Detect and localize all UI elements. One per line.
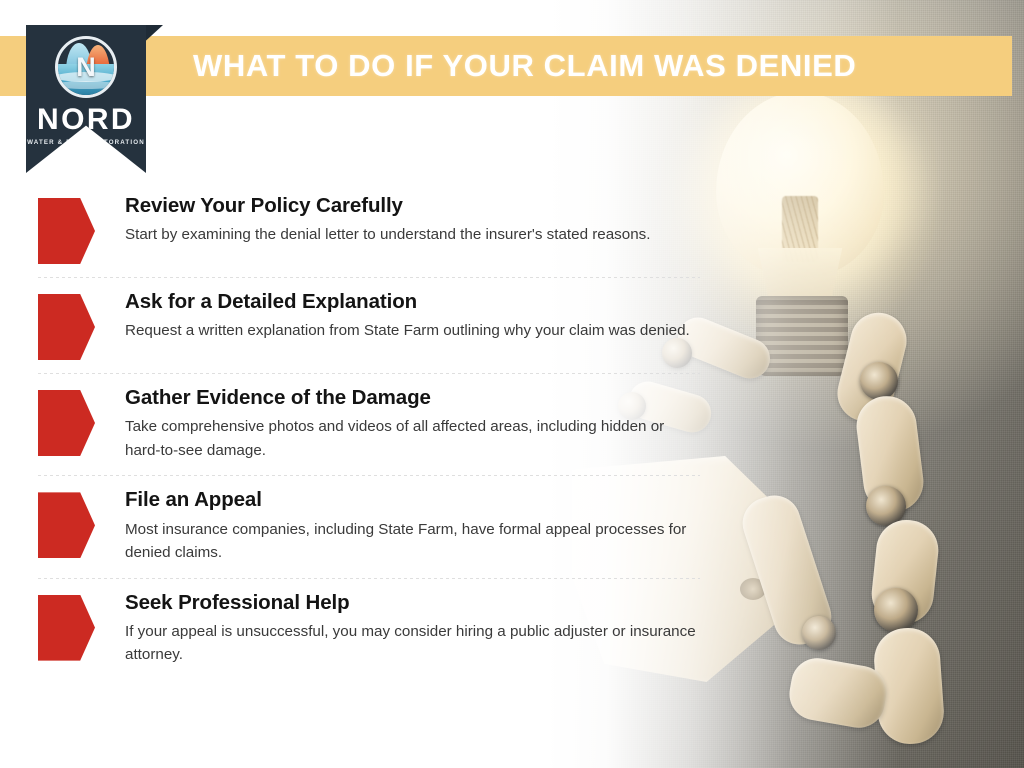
header-banner: WHAT TO DO IF YOUR CLAIM WAS DENIED [0, 36, 1012, 96]
arrow-bullet-icon [38, 198, 95, 264]
step-title: Ask for a Detailed Explanation [125, 290, 690, 314]
list-item: Gather Evidence of the Damage Take compr… [38, 386, 703, 476]
list-item: Ask for a Detailed Explanation Request a… [38, 290, 703, 374]
page-title: WHAT TO DO IF YOUR CLAIM WAS DENIED [193, 48, 856, 84]
step-description: Start by examining the denial letter to … [125, 223, 650, 247]
arrow-bullet-icon [38, 390, 95, 456]
brand-logo[interactable]: N NORD WATER & FIRE RESTORATION [26, 25, 146, 173]
step-body: Gather Evidence of the Damage Take compr… [125, 386, 703, 462]
step-body: File an Appeal Most insurance companies,… [125, 488, 703, 564]
step-title: Gather Evidence of the Damage [125, 386, 703, 410]
step-body: Seek Professional Help If your appeal is… [125, 591, 703, 667]
infographic-canvas: WHAT TO DO IF YOUR CLAIM WAS DENIED N NO… [0, 0, 1024, 768]
arrow-bullet-icon [38, 492, 95, 558]
step-title: Review Your Policy Carefully [125, 194, 650, 218]
arrow-bullet-icon [38, 294, 95, 360]
step-body: Review Your Policy Carefully Start by ex… [125, 194, 650, 247]
logo-tagline: WATER & FIRE RESTORATION [27, 139, 145, 146]
logo-wordmark: NORD [37, 105, 135, 135]
step-title: Seek Professional Help [125, 591, 703, 615]
step-body: Ask for a Detailed Explanation Request a… [125, 290, 690, 343]
list-item: File an Appeal Most insurance companies,… [38, 488, 703, 578]
step-description: If your appeal is unsuccessful, you may … [125, 620, 703, 667]
step-description: Request a written explanation from State… [125, 319, 690, 343]
list-item: Seek Professional Help If your appeal is… [38, 591, 703, 681]
logo-monogram: N [58, 39, 114, 95]
steps-list: Review Your Policy Carefully Start by ex… [38, 194, 703, 693]
step-description: Most insurance companies, including Stat… [125, 518, 703, 565]
arrow-bullet-icon [38, 595, 95, 661]
step-title: File an Appeal [125, 488, 703, 512]
step-description: Take comprehensive photos and videos of … [125, 415, 703, 462]
water-drop-flame-icon: N [55, 36, 117, 98]
list-item: Review Your Policy Carefully Start by ex… [38, 194, 703, 278]
